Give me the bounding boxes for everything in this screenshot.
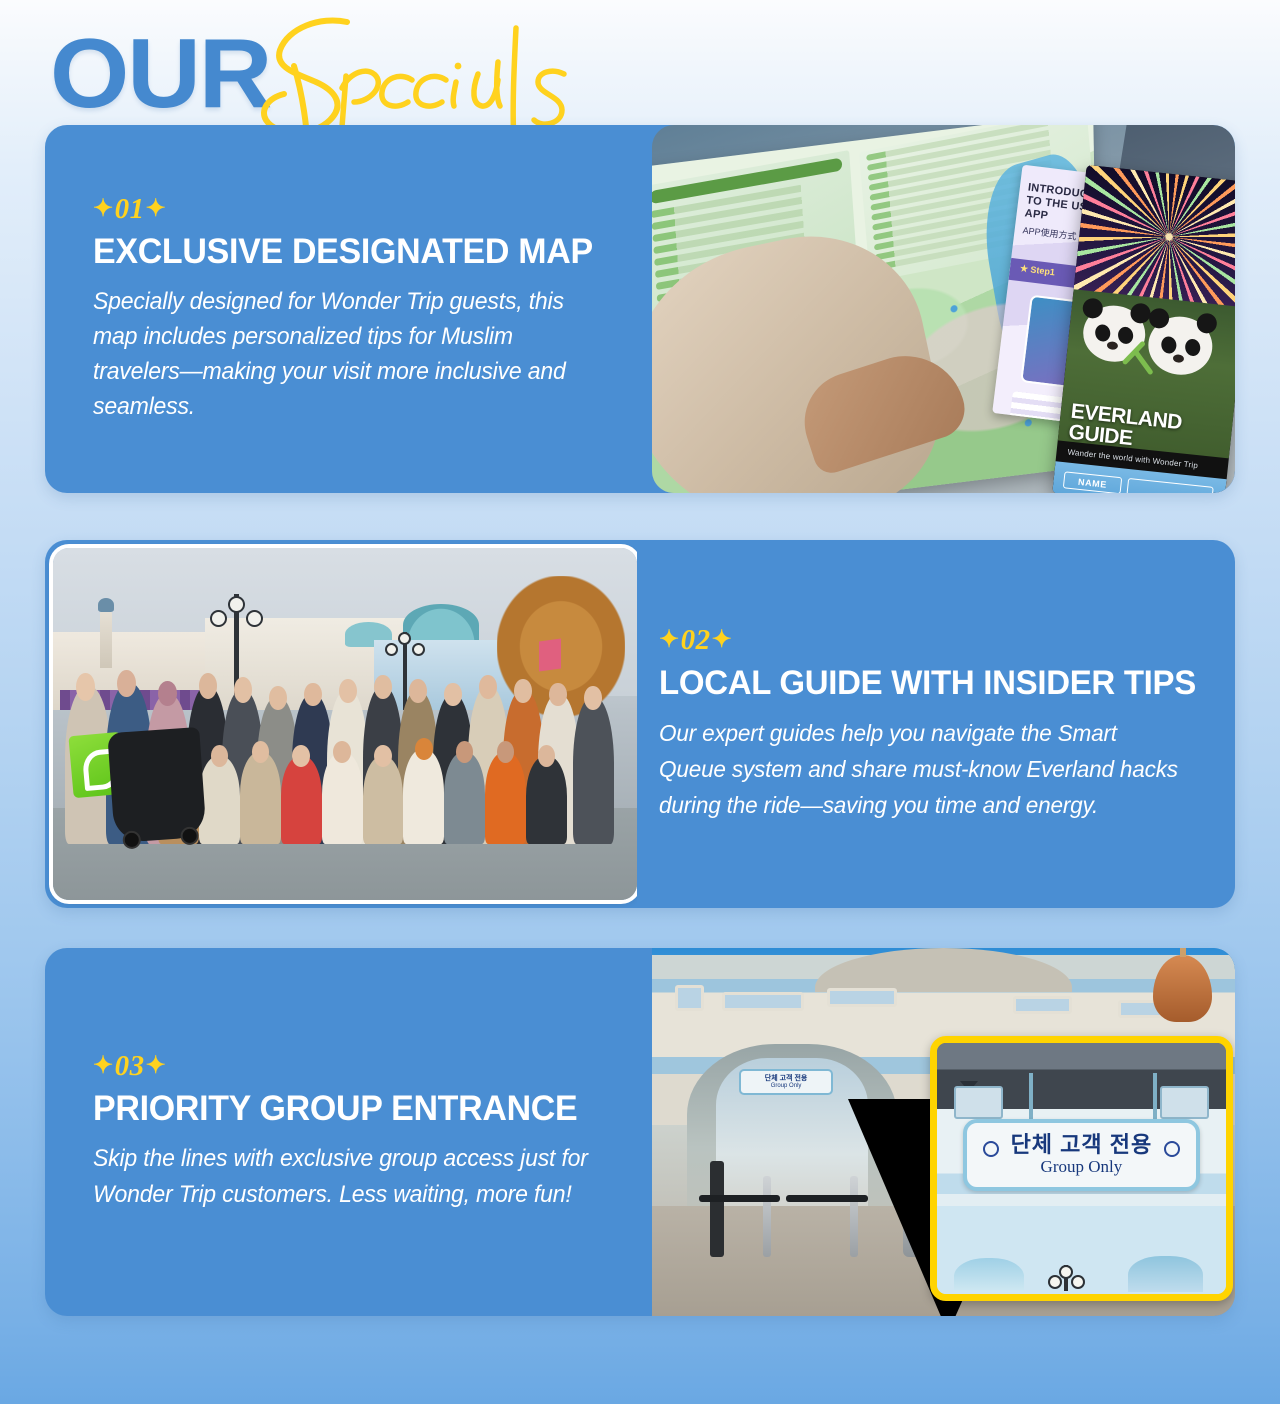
sign-text-korean: 단체 고객 전용 <box>1011 1133 1153 1157</box>
card-3-title: PRIORITY GROUP ENTRANCE <box>93 1089 596 1129</box>
card-1-badge: ✦01✦ <box>93 194 612 224</box>
callout-lamp-post <box>1064 1265 1068 1291</box>
guide-title: EVERLAND GUIDE <box>1068 401 1183 454</box>
guide-name-blank <box>1126 478 1213 493</box>
card-1-photo-inner: INTRODUCTION TO THE USE OF APP APP使用方式 ★… <box>652 125 1235 493</box>
baby-stroller <box>108 727 207 843</box>
card-3-badge: ✦03✦ <box>93 1051 612 1081</box>
guide-name-label: NAME <box>1063 471 1122 493</box>
minaret <box>100 608 112 668</box>
card-2-description: Our expert guides help you navigate the … <box>659 715 1183 823</box>
sparkle-icon: ✦ <box>93 196 114 222</box>
group-only-sign: 단체 고객 전용 Group Only <box>963 1119 1200 1192</box>
card-2-title: LOCAL GUIDE WITH INSIDER TIPS <box>659 663 1189 703</box>
card-2-text-block: ✦02✦ LOCAL GUIDE WITH INSIDER TIPS Our e… <box>637 540 1235 908</box>
sparkle-icon: ✦ <box>146 196 167 222</box>
card-3-photo: 단체 고객 전용 Group Only <box>652 948 1235 1316</box>
card-1-description: Specially designed for Wonder Trip guest… <box>93 284 591 424</box>
sparkle-icon: ✦ <box>146 1053 167 1079</box>
wall-lamp <box>954 1086 1003 1119</box>
card-1-photo: INTRODUCTION TO THE USE OF APP APP使用方式 ★… <box>652 125 1235 493</box>
card-2-badge: ✦02✦ <box>659 625 1205 655</box>
card-1-title: EXCLUSIVE DESIGNATED MAP <box>93 232 596 272</box>
card-3-photo-inner: 단체 고객 전용 Group Only <box>652 948 1235 1316</box>
card-3-description: Skip the lines with exclusive group acce… <box>93 1141 591 1213</box>
sign-text-english: Group Only <box>1041 1157 1123 1177</box>
leaflet-heading-cjk: APP使用方式 <box>1022 223 1077 242</box>
tour-group-crowd <box>53 661 637 844</box>
decorative-arch-right <box>1128 1256 1203 1292</box>
decorative-arch-left <box>954 1258 1023 1292</box>
sparkle-icon: ✦ <box>93 1053 114 1079</box>
special-card-3[interactable]: ✦03✦ PRIORITY GROUP ENTRANCE Skip the li… <box>45 948 1235 1316</box>
sparkle-icon: ✦ <box>712 627 733 653</box>
card-3-text-block: ✦03✦ PRIORITY GROUP ENTRANCE Skip the li… <box>45 948 652 1316</box>
card-1-text-block: ✦01✦ EXCLUSIVE DESIGNATED MAP Specially … <box>45 125 652 493</box>
card-2-badge-number: 02 <box>681 624 711 656</box>
callout-wall <box>937 1194 1226 1294</box>
card-2-photo <box>45 540 637 908</box>
card-3-badge-number: 03 <box>115 1050 145 1082</box>
panda-right <box>1145 314 1215 378</box>
card-2-photo-inner <box>53 548 637 900</box>
guide-name-band: NAME <box>1052 461 1226 493</box>
special-card-1[interactable]: ✦01✦ EXCLUSIVE DESIGNATED MAP Specially … <box>45 125 1235 493</box>
page-title-bold: OUR <box>50 24 270 122</box>
special-card-2[interactable]: ✦02✦ LOCAL GUIDE WITH INSIDER TIPS Our e… <box>45 540 1235 908</box>
group-photo <box>53 548 637 900</box>
wall-lamp <box>1160 1086 1209 1119</box>
sparkle-icon: ✦ <box>659 627 680 653</box>
card-1-badge-number: 01 <box>115 193 145 225</box>
group-only-sign-callout: 단체 고객 전용 Group Only <box>930 1036 1233 1301</box>
entrance-gate-photo: 단체 고객 전용 Group Only <box>652 948 1235 1316</box>
